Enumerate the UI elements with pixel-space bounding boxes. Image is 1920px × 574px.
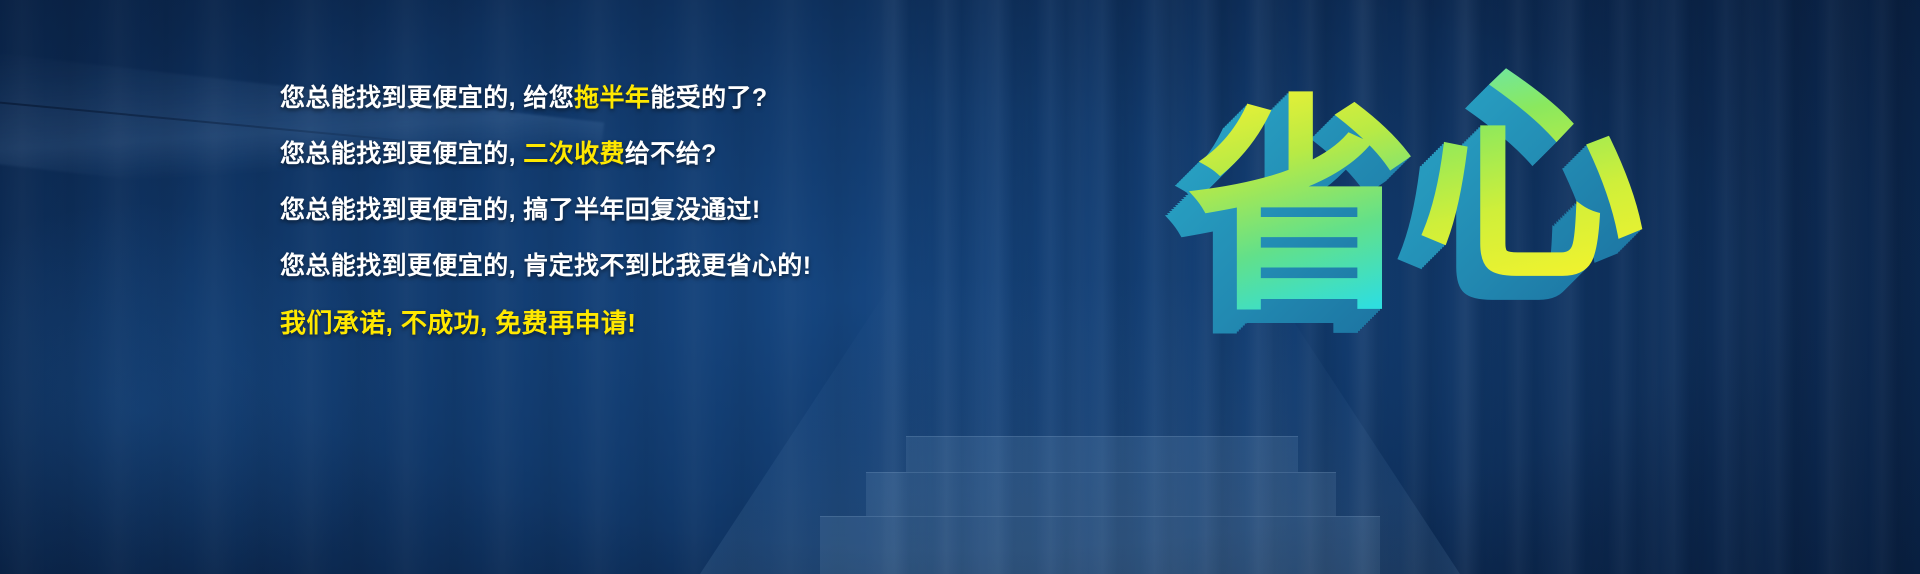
copy-line-2-highlight: 二次收费 (523, 140, 625, 168)
background-step-3 (906, 436, 1298, 472)
copy-line-3: 您总能找到更便宜的, 搞了半年回复没通过! (280, 198, 920, 223)
background-step-2 (866, 472, 1336, 516)
headline-char-sheng: 省 (1188, 76, 1418, 343)
background-step-1 (820, 516, 1380, 574)
copy-line-4-text: 您总能找到更便宜的, 肯定找不到比我更省心的! (280, 252, 811, 280)
copy-line-5-text: 我们承诺, 不成功, 免费再申请! (280, 308, 636, 338)
copy-line-5-promise: 我们承诺, 不成功, 免费再申请! (280, 310, 920, 336)
headline-art-shengxin: 省 省 省 省 省 省 省 省 省 省 省 省 心 心 心 心 心 心 心 心 (1162, 62, 1682, 382)
headline-art-svg: 省 省 省 省 省 省 省 省 省 省 省 省 心 心 心 心 心 心 心 心 (1162, 62, 1682, 382)
headline-char-xin: 心 (1416, 46, 1646, 313)
copy-line-1: 您总能找到更便宜的, 给您拖半年能受的了? (280, 86, 920, 111)
copy-line-2: 您总能找到更便宜的, 二次收费给不给? (280, 142, 920, 167)
copy-line-1-highlight: 拖半年 (574, 84, 650, 112)
copy-block: 您总能找到更便宜的, 给您拖半年能受的了? 您总能找到更便宜的, 二次收费给不给… (280, 86, 920, 336)
copy-line-3-text: 您总能找到更便宜的, 搞了半年回复没通过! (280, 196, 761, 224)
promo-banner: 您总能找到更便宜的, 给您拖半年能受的了? 您总能找到更便宜的, 二次收费给不给… (0, 0, 1920, 574)
copy-line-4: 您总能找到更便宜的, 肯定找不到比我更省心的! (280, 254, 920, 279)
copy-line-1-part-3: 能受的了? (650, 84, 767, 112)
copy-line-2-part-1: 您总能找到更便宜的, (280, 140, 523, 168)
copy-line-2-part-3: 给不给? (625, 140, 717, 168)
copy-line-1-part-1: 您总能找到更便宜的, 给您 (280, 84, 574, 112)
